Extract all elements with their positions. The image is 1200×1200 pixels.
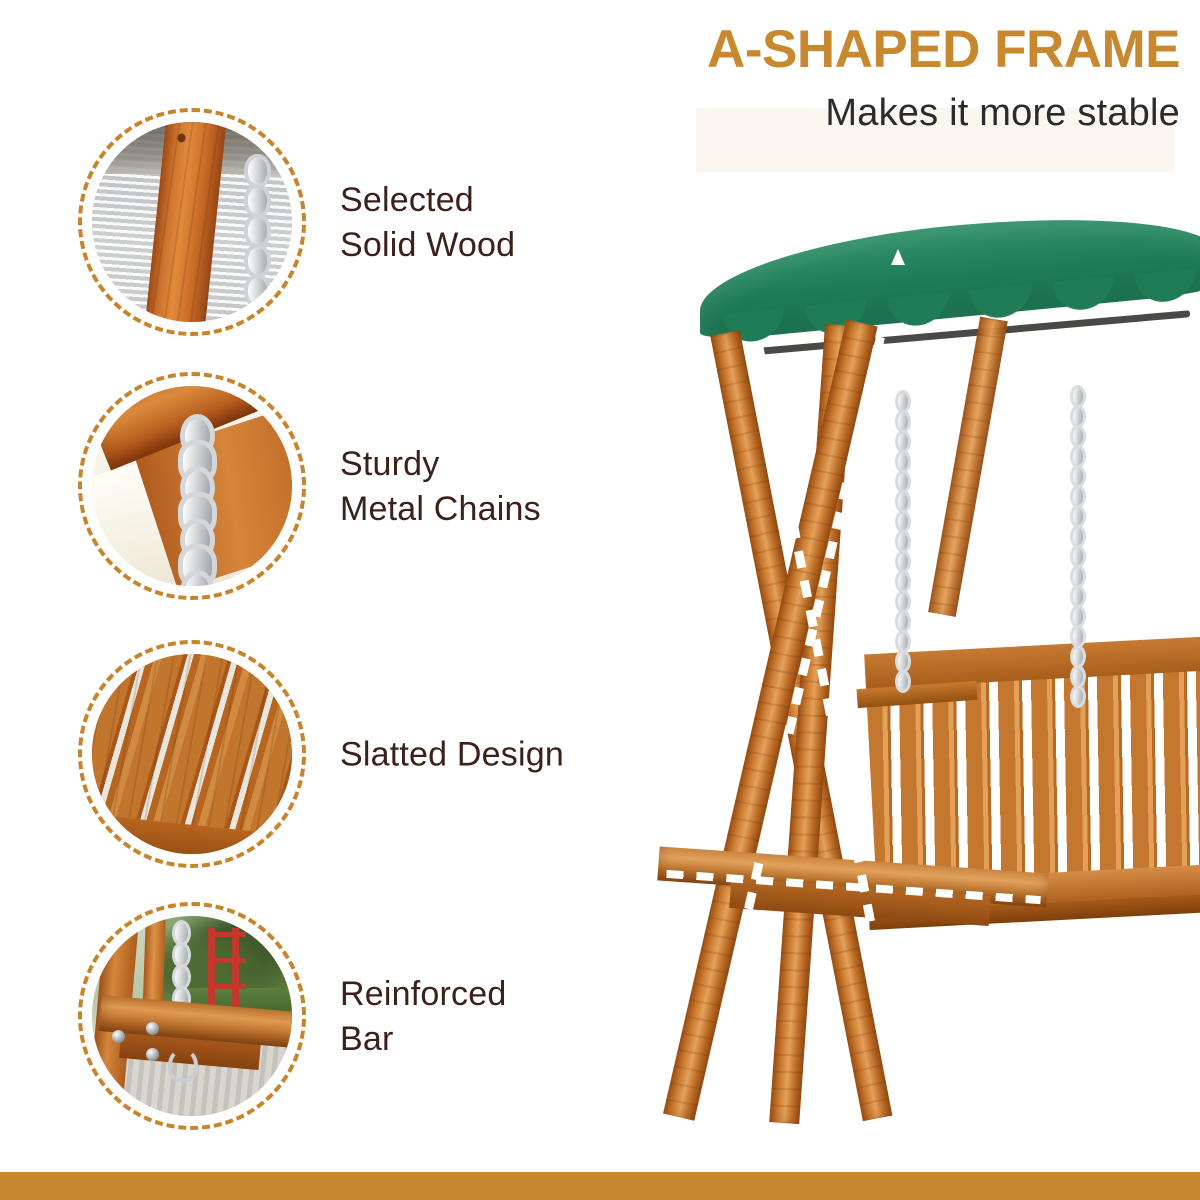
feature-label: Selected Solid Wood xyxy=(340,178,515,268)
bolt-icon xyxy=(146,1022,159,1035)
solid-wood-post-closeup-image xyxy=(92,122,292,322)
feature-photo-circle xyxy=(78,372,306,600)
feature-photo-circle xyxy=(78,902,306,1130)
feature-label: Reinforced Bar xyxy=(340,972,506,1062)
swing-chain-left xyxy=(895,390,906,690)
header: A-SHAPED FRAME Makes it more stable xyxy=(640,22,1180,135)
chain-detail xyxy=(244,154,264,294)
feature-list: Selected Solid Wood Sturdy M xyxy=(0,0,640,1200)
wood-slats-closeup-image xyxy=(92,654,292,854)
chain-hook-icon xyxy=(168,1048,198,1082)
green-canopy xyxy=(700,225,1200,385)
feature-photo-circle xyxy=(78,108,306,336)
feature-item-sturdy-metal-chains: Sturdy Metal Chains xyxy=(0,372,640,602)
feature-label: Sturdy Metal Chains xyxy=(340,442,541,532)
a-frame-dashed-highlight xyxy=(878,243,918,355)
feature-label: Slatted Design xyxy=(340,733,564,778)
bolt-icon xyxy=(112,1030,125,1043)
page-subtitle: Makes it more stable xyxy=(640,92,1180,136)
reinforced-bar-closeup-image xyxy=(92,916,292,1116)
product-image-wooden-a-frame-porch-swing xyxy=(650,215,1200,1175)
feature-item-slatted-design: Slatted Design xyxy=(0,640,640,870)
swing-chain-right xyxy=(1070,385,1081,715)
feature-item-selected-solid-wood: Selected Solid Wood xyxy=(0,108,640,338)
feature-item-reinforced-bar: Reinforced Bar xyxy=(0,902,640,1132)
subtitle-wrapper: Makes it more stable xyxy=(640,92,1180,136)
metal-chain-hook-closeup-image xyxy=(92,386,292,586)
bottom-accent-bar xyxy=(0,1172,1200,1200)
feature-photo-circle xyxy=(78,640,306,868)
bolt-icon xyxy=(146,1048,159,1061)
page-title: A-SHAPED FRAME xyxy=(640,22,1180,78)
chain-detail xyxy=(180,414,206,582)
infographic-page: A-SHAPED FRAME Makes it more stable S xyxy=(0,0,1200,1200)
